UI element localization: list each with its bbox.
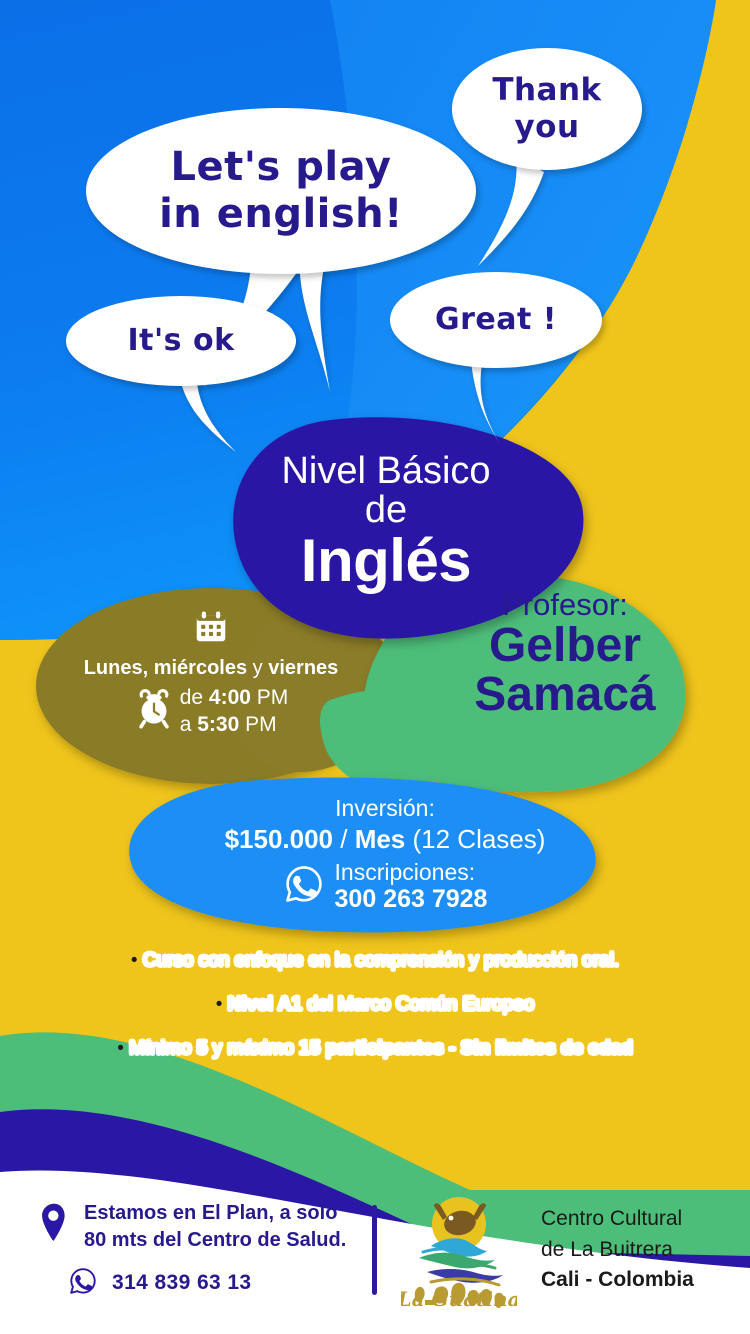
address-line-2: 80 mts del Centro de Salud. (84, 1227, 346, 1254)
footer-contact: Estamos en El Plan, a solo 80 mts del Ce… (0, 1200, 372, 1301)
schedule-days-part-1: Lunes, miércoles (84, 657, 247, 679)
footer-divider (372, 1205, 377, 1295)
footer-phone-row: 314 839 63 13 (38, 1266, 372, 1301)
signup-row: Inscripciones: 300 263 7928 (175, 859, 595, 914)
price-section: Inversión: $150.000 / Mes (12 Clases) In… (175, 795, 595, 914)
footer-address: Estamos en El Plan, a solo 80 mts del Ce… (84, 1200, 346, 1254)
bullet-text-run: Mínimo (129, 1038, 197, 1059)
time-from-value: 4:00 (209, 686, 251, 709)
price-value: $150.000 / Mes (12 Clases) (175, 824, 595, 855)
bullet-text-run: y máximo (207, 1038, 299, 1059)
professor-first-name: Gelber (430, 622, 700, 671)
footer-organization: Centro Cultural de La Buitrera Cali - Co… (541, 1204, 694, 1295)
price-detail: (12 Clases) (405, 824, 545, 854)
org-line-1: Centro Cultural (541, 1204, 694, 1234)
bubble-text: It's ok (127, 323, 234, 358)
schedule-days-conjunction: y (247, 657, 268, 679)
title-line-language: Inglés (236, 529, 536, 592)
bullet-text-run: del Marco Común Europeo (302, 994, 534, 1015)
bullet-text: Mínimo 5 y máximo 15 participantes - Sin… (129, 1038, 633, 1059)
list-item: • Curso con enfoque en la comprensión y … (0, 950, 750, 972)
footer-phone[interactable]: 314 839 63 13 (112, 1271, 252, 1295)
schedule-days: Lunes, miércoles y viernes (46, 657, 376, 680)
poster-root: Let's play in english! Thank you It's ok… (0, 0, 750, 1334)
time-from-prefix: de (180, 686, 209, 709)
bubble-text-line1: Thank (492, 72, 601, 109)
schedule-section: Lunes, miércoles y viernes de 4:00 PM a … (46, 608, 376, 739)
course-title: Nivel Básico de Inglés (236, 452, 536, 592)
list-item: • Nivel A1 del Marco Común Europeo (0, 994, 750, 1016)
professor-section: Profesor: Gelber Samacá (430, 588, 700, 720)
location-pin-icon (38, 1202, 70, 1251)
bubble-text-line2: in english! (159, 191, 403, 238)
price-label: Inversión: (175, 795, 595, 822)
speech-bubble-lets-play: Let's play in english! (86, 108, 476, 274)
bullet-text-run: 5 (197, 1038, 208, 1059)
schedule-time-from: de 4:00 PM (180, 684, 289, 711)
schedule-times: de 4:00 PM a 5:30 PM (180, 684, 289, 739)
speech-bubble-its-ok: It's ok (66, 296, 296, 386)
list-item: • Mínimo 5 y máximo 15 participantes - S… (0, 1038, 750, 1060)
bullet-text-run: Nivel A1 (228, 994, 302, 1015)
la-guatina-logo: La Guatina (401, 1188, 517, 1312)
professor-label: Profesor: (430, 588, 700, 622)
bullet-dot: • (131, 950, 138, 971)
professor-last-name: Samacá (430, 671, 700, 720)
address-line-1: Estamos en El Plan, a solo (84, 1200, 346, 1227)
time-to-prefix: a (180, 713, 198, 736)
calendar-icon (46, 608, 376, 651)
speech-bubble-thank-you: Thank you (452, 48, 642, 170)
bubble-text-line1: Let's play (159, 144, 403, 191)
bubble-text: Great ! (435, 302, 557, 337)
org-line-2: de La Buitrera (541, 1235, 694, 1265)
bullet-text-run: 15 participantes - Sin limites de edad (299, 1038, 633, 1059)
org-line-3: Cali - Colombia (541, 1268, 694, 1291)
schedule-days-part-2: viernes (268, 657, 338, 679)
time-from-suffix: PM (251, 686, 288, 709)
schedule-time-to: a 5:30 PM (180, 711, 289, 738)
price-separator: / (333, 824, 355, 854)
signup-phone[interactable]: 300 263 7928 (335, 885, 488, 914)
signup-texts: Inscripciones: 300 263 7928 (335, 859, 488, 914)
bullet-text: Curso con enfoque en la comprensión y pr… (143, 950, 619, 971)
features-list: • Curso con enfoque en la comprensión y … (0, 950, 750, 1082)
whatsapp-icon[interactable] (283, 863, 325, 910)
bullet-dot: • (216, 994, 223, 1015)
schedule-times-row: de 4:00 PM a 5:30 PM (46, 684, 376, 739)
footer: Estamos en El Plan, a solo 80 mts del Ce… (0, 1166, 750, 1334)
title-line-level: Nivel Básico (236, 452, 536, 491)
bullet-text-run: Curso con enfoque en la comprensión y pr… (143, 950, 619, 971)
alarm-clock-icon (134, 688, 174, 735)
time-to-suffix: PM (239, 713, 276, 736)
footer-address-row: Estamos en El Plan, a solo 80 mts del Ce… (38, 1200, 372, 1254)
title-line-de: de (236, 491, 536, 531)
bullet-dot: • (117, 1038, 124, 1059)
bullet-text: Nivel A1 del Marco Común Europeo (228, 994, 535, 1015)
logo-wordmark: La Guatina (401, 1287, 517, 1311)
bubble-text-line2: you (492, 109, 601, 146)
time-to-value: 5:30 (197, 713, 239, 736)
whatsapp-icon[interactable] (68, 1266, 98, 1301)
signup-label: Inscripciones: (335, 859, 488, 885)
price-period: Mes (355, 824, 406, 854)
price-amount: $150.000 (225, 824, 333, 854)
speech-bubble-great: Great ! (390, 272, 602, 368)
